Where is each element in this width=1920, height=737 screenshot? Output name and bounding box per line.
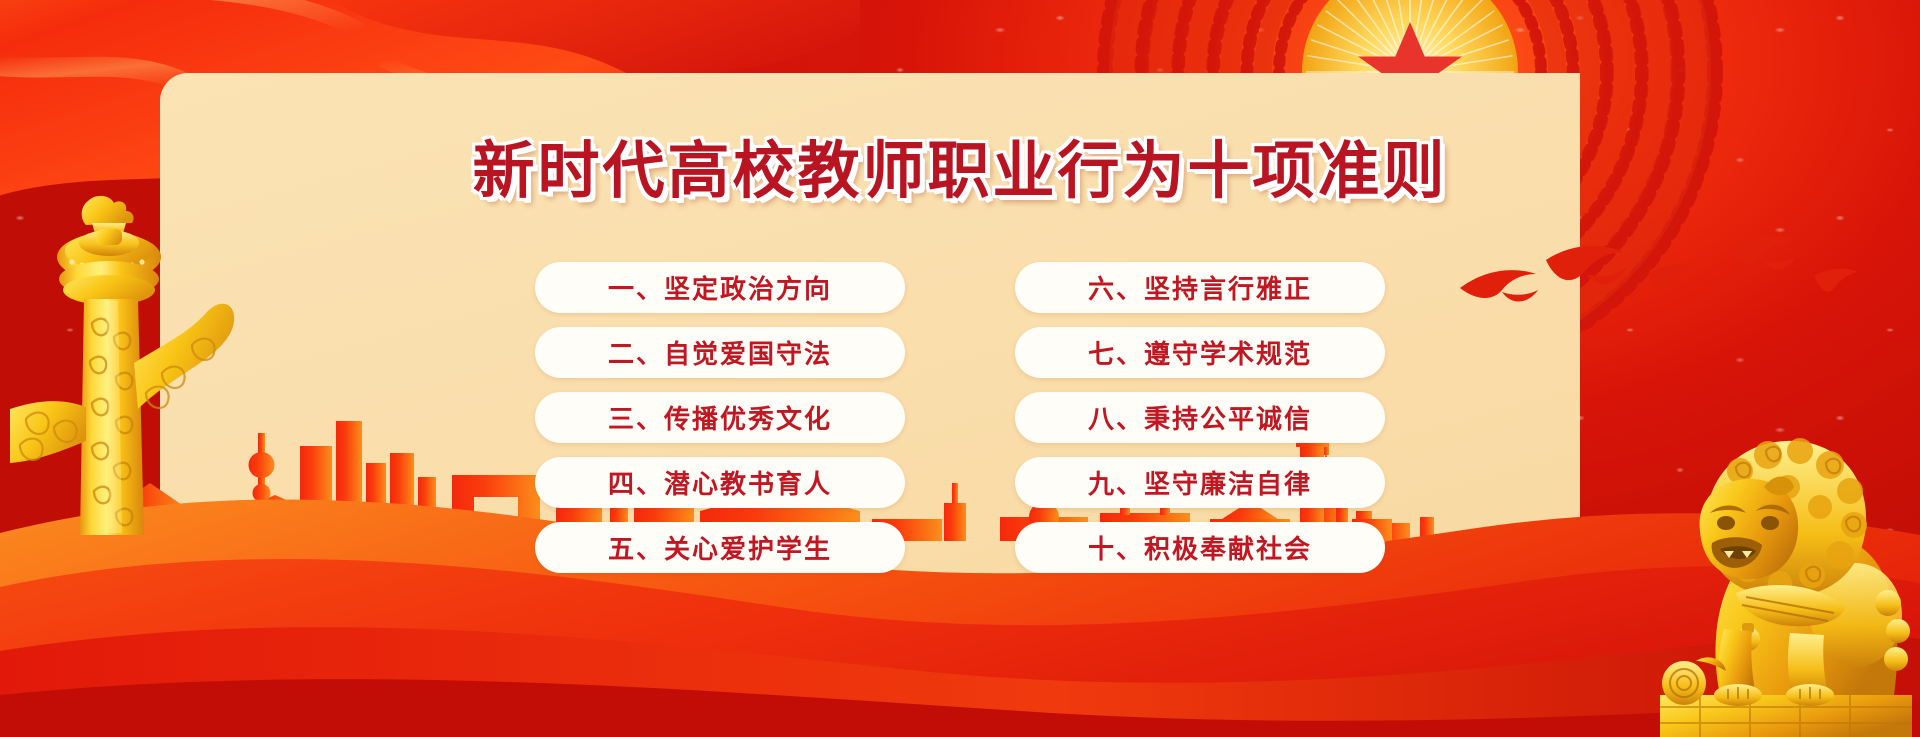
guideline-label: 二、自觉爱国守法: [608, 334, 832, 371]
guardian-lion-icon: [1640, 347, 1920, 737]
guideline-pill-1[interactable]: 一、坚定政治方向: [535, 262, 905, 313]
guideline-label: 八、秉持公平诚信: [1088, 399, 1312, 436]
guideline-pill-10[interactable]: 十、积极奉献社会: [1015, 522, 1385, 573]
guidelines-grid: 一、坚定政治方向 六、坚持言行雅正 二、自觉爱国守法 七、遵守学术规范 三、传播…: [535, 262, 1385, 573]
guideline-label: 九、坚守廉洁自律: [1088, 464, 1312, 501]
guideline-pill-5[interactable]: 五、关心爱护学生: [535, 522, 905, 573]
guideline-pill-6[interactable]: 六、坚持言行雅正: [1015, 262, 1385, 313]
guideline-label: 五、关心爱护学生: [608, 529, 832, 566]
guideline-pill-9[interactable]: 九、坚守廉洁自律: [1015, 457, 1385, 508]
guideline-label: 十、积极奉献社会: [1088, 529, 1312, 566]
guideline-label: 四、潜心教书育人: [608, 464, 832, 501]
guideline-pill-3[interactable]: 三、传播优秀文化: [535, 392, 905, 443]
guideline-pill-4[interactable]: 四、潜心教书育人: [535, 457, 905, 508]
guideline-label: 六、坚持言行雅正: [1088, 269, 1312, 306]
guideline-pill-2[interactable]: 二、自觉爱国守法: [535, 327, 905, 378]
guideline-label: 三、传播优秀文化: [608, 399, 832, 436]
page-title: 新时代高校教师职业行为十项准则: [0, 120, 1920, 210]
guideline-label: 七、遵守学术规范: [1088, 334, 1312, 371]
guideline-pill-8[interactable]: 八、秉持公平诚信: [1015, 392, 1385, 443]
guideline-pill-7[interactable]: 七、遵守学术规范: [1015, 327, 1385, 378]
guideline-label: 一、坚定政治方向: [608, 269, 832, 306]
banner-stage: 新时代高校教师职业行为十项准则 一、坚定政治方向 六、坚持言行雅正 二、自觉爱国…: [0, 0, 1920, 737]
